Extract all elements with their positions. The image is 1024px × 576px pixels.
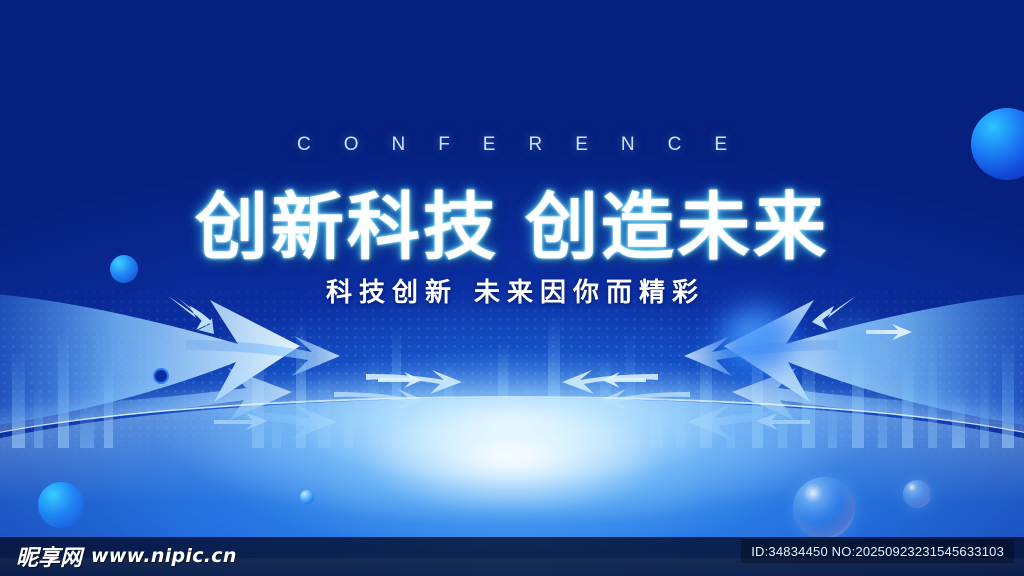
page-title: 创新科技创造未来 [0, 168, 1024, 274]
title-part-left: 创新科技 [195, 185, 499, 270]
watermark-url: www.nipic.cn [91, 545, 237, 567]
conference-poster: CONFERENCE 创新科技创造未来 科技创新未来因你而精彩 昵享网 www.… [0, 0, 1024, 576]
page-subtitle: 科技创新未来因你而精彩 [0, 272, 1024, 309]
watermark-logo: 昵享网 [16, 540, 82, 572]
subtitle-part-left: 科技创新 [326, 278, 458, 308]
subtitle-part-right: 未来因你而精彩 [474, 278, 705, 308]
title-part-right: 创造未来 [525, 185, 829, 270]
asset-id-label: ID:34834450 NO:20250923231545633103 [741, 539, 1014, 563]
eyebrow-conference: CONFERENCE [0, 134, 1024, 156]
poster-text-block: CONFERENCE 创新科技创造未来 科技创新未来因你而精彩 [0, 0, 1024, 576]
watermark: 昵享网 www.nipic.cn [16, 539, 237, 573]
